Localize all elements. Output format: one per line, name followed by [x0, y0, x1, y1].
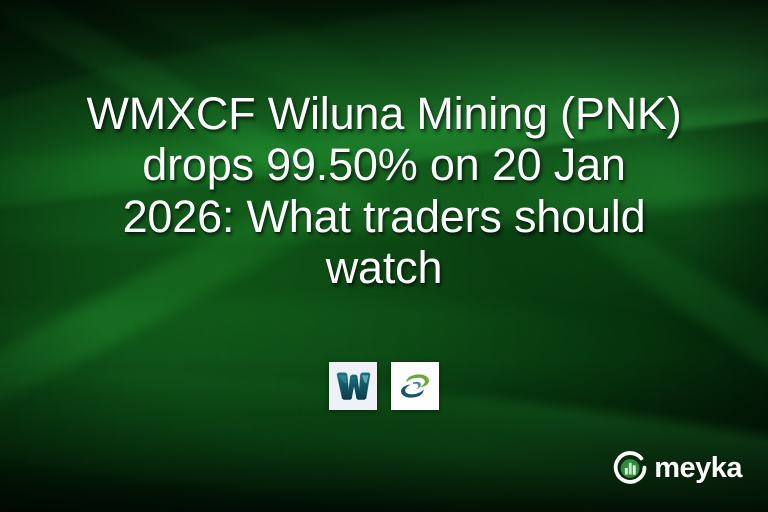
swirl-logo — [391, 362, 439, 410]
poster-headline: WMXCF Wiluna Mining (PNK) drops 99.50% o… — [0, 88, 768, 293]
meyka-brand[interactable]: meyka — [613, 450, 742, 486]
meyka-chart-circle-icon — [613, 450, 649, 486]
meyka-wordmark: meyka — [654, 454, 742, 483]
wiluna-mining-logo — [329, 362, 377, 410]
swirl-icon — [397, 368, 433, 404]
poster-canvas: WMXCF Wiluna Mining (PNK) drops 99.50% o… — [0, 0, 768, 512]
logo-row — [0, 362, 768, 410]
w-letter-icon — [335, 371, 371, 401]
